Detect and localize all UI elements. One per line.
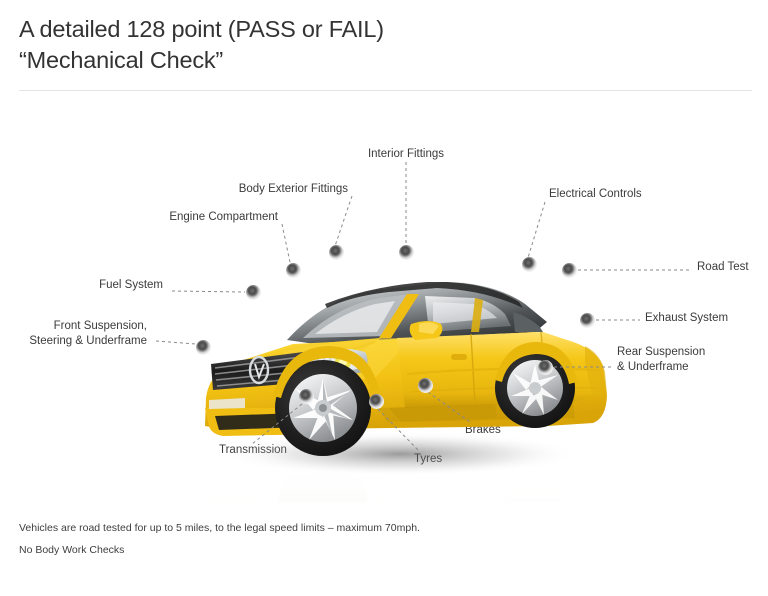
marker-exhaust-system[interactable]	[580, 313, 595, 328]
header-divider	[19, 90, 752, 91]
page-footer: Vehicles are road tested for up to 5 mil…	[19, 517, 739, 561]
marker-rear-suspension[interactable]	[538, 360, 553, 375]
callout-label-body-exterior[interactable]: Body Exterior Fittings	[148, 182, 348, 197]
callout-label-interior-fittings[interactable]: Interior Fittings	[306, 147, 506, 162]
marker-brakes[interactable]	[418, 378, 433, 393]
page-header: A detailed 128 point (PASS or FAIL) “Mec…	[0, 0, 768, 92]
callout-label-rear-suspension[interactable]: Rear Suspension & Underframe	[617, 345, 757, 375]
marker-fuel-system[interactable]	[246, 285, 261, 300]
marker-body-exterior[interactable]	[329, 245, 344, 260]
page-title: A detailed 128 point (PASS or FAIL) “Mec…	[19, 14, 719, 76]
marker-engine-compartment[interactable]	[286, 263, 301, 278]
marker-interior-fittings[interactable]	[399, 245, 414, 260]
callout-label-exhaust-system[interactable]: Exhaust System	[645, 311, 768, 326]
marker-transmission[interactable]	[299, 389, 314, 404]
marker-electrical-controls[interactable]	[522, 257, 537, 272]
callout-label-fuel-system[interactable]: Fuel System	[33, 278, 163, 293]
footer-line-road-test-note: Vehicles are road tested for up to 5 mil…	[19, 517, 739, 539]
callout-label-electrical-controls[interactable]: Electrical Controls	[549, 187, 729, 202]
footer-line-body-work-note: No Body Work Checks	[19, 539, 739, 561]
marker-road-test[interactable]	[562, 263, 577, 278]
vehicle-inspection-diagram: Interior Fittings Body Exterior Fittings…	[0, 92, 768, 502]
marker-front-suspension[interactable]	[196, 340, 211, 355]
marker-tyres[interactable]	[369, 394, 384, 409]
callout-label-road-test[interactable]: Road Test	[697, 260, 768, 275]
callout-label-front-suspension[interactable]: Front Suspension, Steering & Underframe	[7, 319, 147, 349]
